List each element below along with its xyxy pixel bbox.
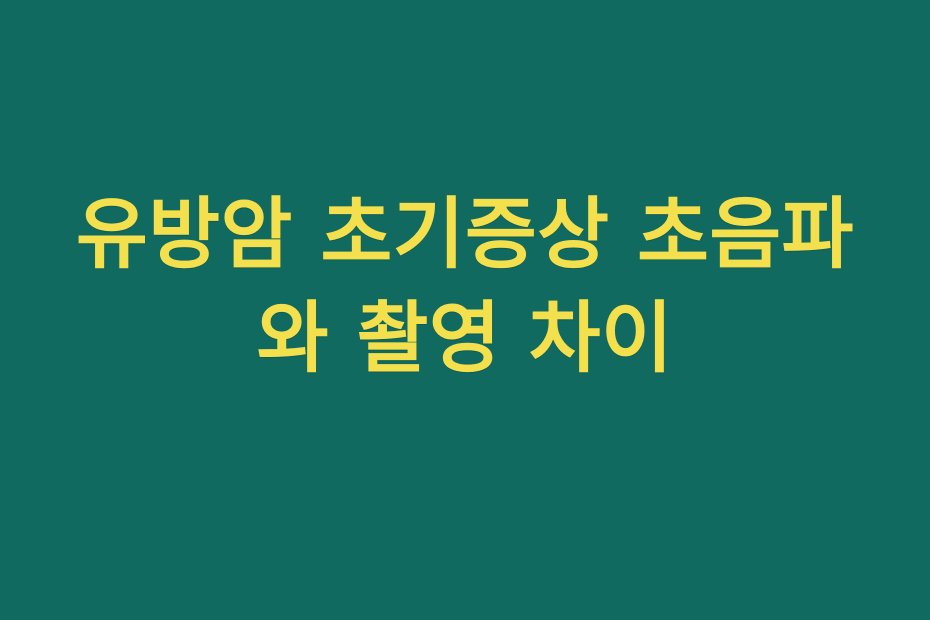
page-title: 유방암 초기증상 초음파 와 촬영 차이 [0,184,930,391]
title-line-2: 와 촬영 차이 [0,288,930,392]
title-line-1: 유방암 초기증상 초음파 [0,184,930,288]
title-card-canvas: 유방암 초기증상 초음파 와 촬영 차이 [0,0,930,620]
